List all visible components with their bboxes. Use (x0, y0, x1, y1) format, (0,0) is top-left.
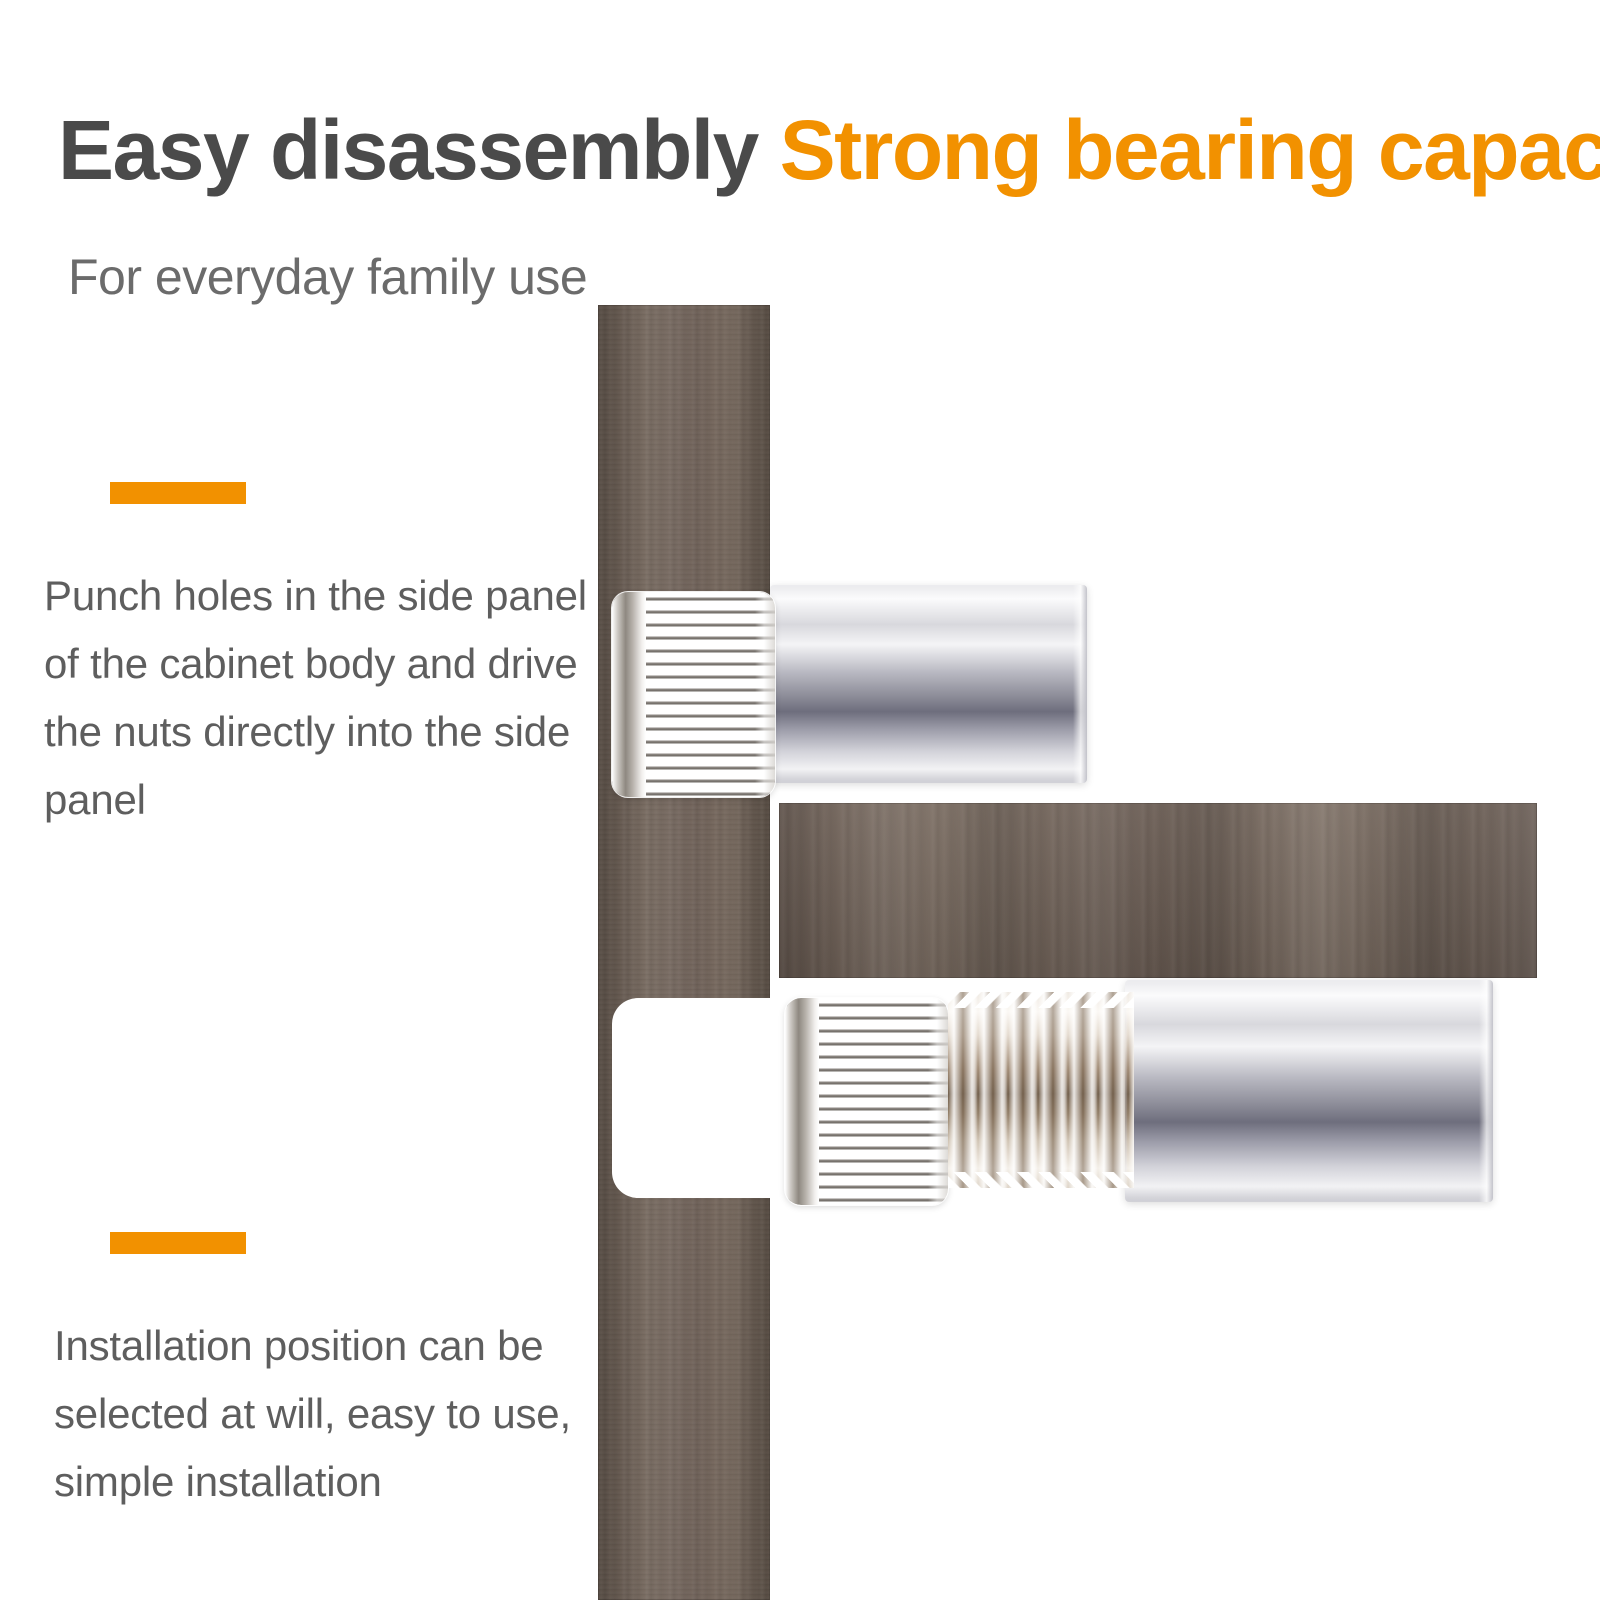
page-title: Easy disassembly Strong bearing capacity (58, 96, 1558, 204)
callout-text: Installation position can be selected at… (54, 1312, 614, 1516)
accent-rule-icon (110, 482, 246, 504)
threaded-screw-shank (948, 992, 1134, 1188)
headline-primary: Easy disassembly (58, 103, 758, 197)
page-subtitle: For everyday family use (68, 248, 587, 306)
knurled-nut-head-installed (612, 592, 775, 797)
headline-accent: Strong bearing capacity (780, 103, 1600, 197)
nut-barrel-installed (770, 585, 1087, 783)
headline-space (758, 103, 780, 197)
thread-crest-top-icon (948, 992, 1134, 1008)
thread-crest-bottom-icon (948, 1172, 1134, 1188)
nut-barrel-loose (1125, 980, 1493, 1202)
knurled-nut-head-loose (785, 998, 948, 1205)
wood-shelf-panel (779, 803, 1537, 978)
punched-hole-in-side-panel (612, 998, 782, 1198)
wood-side-panel (598, 305, 770, 1600)
product-infographic: Easy disassembly Strong bearing capacity… (0, 0, 1600, 1600)
accent-rule-icon (110, 1232, 246, 1254)
callout-installation-position: Installation position can be selected at… (54, 1232, 614, 1516)
callout-punch-holes: Punch holes in the side panel of the cab… (44, 482, 604, 834)
callout-text: Punch holes in the side panel of the cab… (44, 562, 604, 834)
